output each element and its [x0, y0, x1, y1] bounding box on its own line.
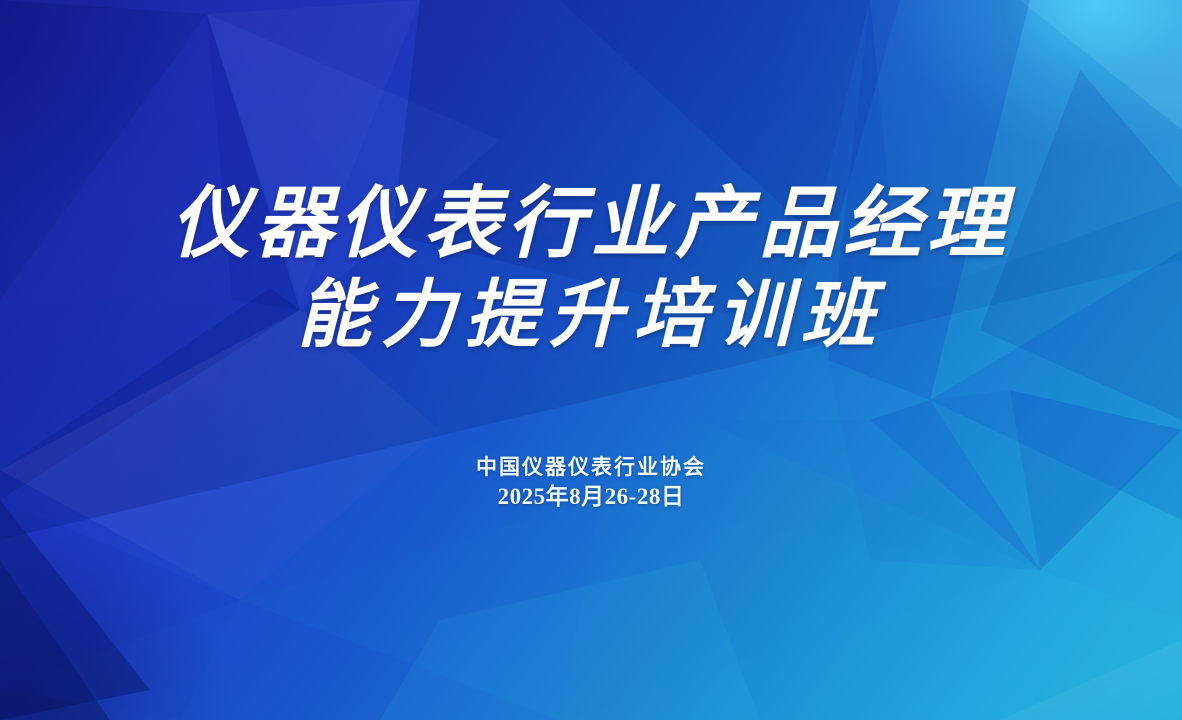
- poster-canvas: 仪器仪表行业产品经理 能力提升培训班 中国仪器仪表行业协会 2025年8月26-…: [0, 0, 1182, 720]
- poster-content: 仪器仪表行业产品经理 能力提升培训班 中国仪器仪表行业协会 2025年8月26-…: [0, 0, 1182, 720]
- title-line-2: 能力提升培训班: [0, 270, 1182, 362]
- subtitle-organizer: 中国仪器仪表行业协会: [0, 452, 1182, 482]
- subtitle-date: 2025年8月26-28日: [0, 482, 1182, 512]
- poster-subtitle: 中国仪器仪表行业协会 2025年8月26-28日: [0, 452, 1182, 512]
- title-line-1: 仪器仪表行业产品经理: [0, 178, 1182, 270]
- poster-title: 仪器仪表行业产品经理 能力提升培训班: [0, 178, 1182, 362]
